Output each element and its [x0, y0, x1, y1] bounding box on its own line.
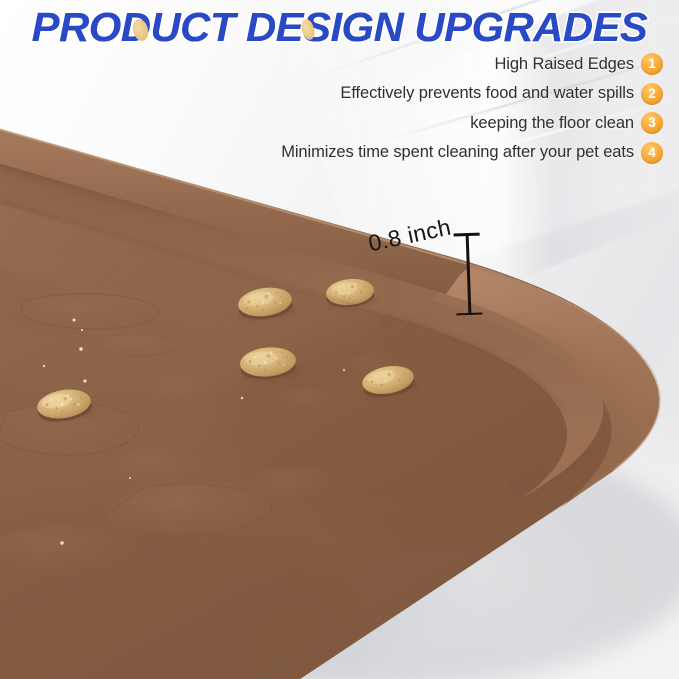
feature-number-badge: 3 — [641, 112, 663, 134]
feature-item-2: Effectively prevents food and water spil… — [281, 82, 663, 106]
feature-number-badge: 2 — [641, 83, 663, 105]
caliper-line — [466, 233, 471, 315]
feature-item-3: keeping the floor clean 3 — [281, 111, 663, 135]
page-title: PRODUCT DESIGN UPGRADES — [0, 4, 679, 51]
feature-label: keeping the floor clean — [470, 114, 634, 133]
i-beam-dimension-icon — [454, 233, 483, 316]
feature-label: Effectively prevents food and water spil… — [340, 84, 634, 103]
feature-label: Minimizes time spent cleaning after your… — [281, 143, 634, 162]
feature-item-4: Minimizes time spent cleaning after your… — [281, 141, 663, 165]
feature-item-1: High Raised Edges 1 — [281, 52, 663, 76]
feature-label: High Raised Edges — [494, 55, 634, 74]
product-marketing-image: PRODUCT DESIGN UPGRADES PRODUCT DESIGN U… — [0, 0, 679, 679]
feature-number-badge: 1 — [641, 53, 663, 75]
feature-list: High Raised Edges 1 Effectively prevents… — [281, 52, 663, 170]
feature-number-badge: 4 — [641, 142, 663, 164]
